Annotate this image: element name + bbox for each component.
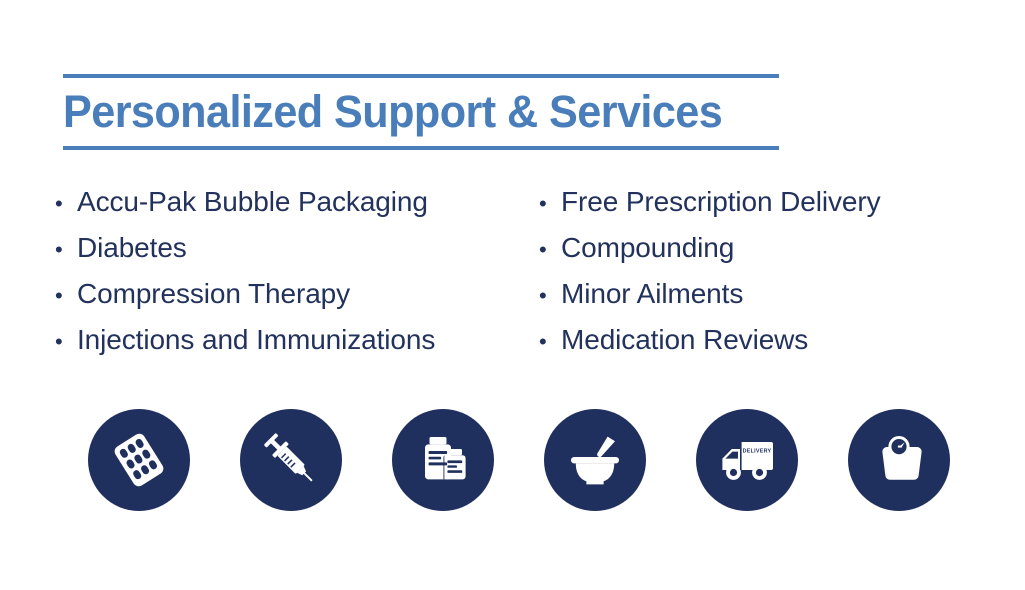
services-columns: • Accu-Pak Bubble Packaging • Diabetes •… bbox=[55, 179, 995, 363]
list-item: • Compression Therapy bbox=[55, 271, 539, 317]
weight-scale-icon bbox=[868, 429, 930, 491]
bullet-dot-icon: • bbox=[55, 273, 77, 319]
list-item: • Accu-Pak Bubble Packaging bbox=[55, 179, 539, 225]
service-label: Compression Therapy bbox=[77, 271, 350, 317]
syringe-icon bbox=[260, 429, 322, 491]
service-label: Accu-Pak Bubble Packaging bbox=[77, 179, 428, 225]
icon-badge-weight-scale bbox=[848, 409, 950, 511]
page-title: Personalized Support & Services bbox=[63, 78, 750, 146]
services-right-column: • Free Prescription Delivery • Compoundi… bbox=[539, 179, 995, 363]
bullet-list-left: • Accu-Pak Bubble Packaging • Diabetes •… bbox=[55, 179, 539, 363]
list-item: • Injections and Immunizations bbox=[55, 317, 539, 363]
bullet-dot-icon: • bbox=[539, 319, 561, 365]
pill-bottles-icon bbox=[412, 429, 474, 491]
title-rule-bottom bbox=[63, 146, 779, 150]
icon-badge-syringe bbox=[240, 409, 342, 511]
list-item: • Free Prescription Delivery bbox=[539, 179, 995, 225]
list-item: • Minor Ailments bbox=[539, 271, 995, 317]
service-label: Compounding bbox=[561, 225, 734, 271]
blister-pack-icon bbox=[108, 429, 170, 491]
service-icon-row: DELIVERY bbox=[88, 409, 952, 511]
bullet-dot-icon: • bbox=[539, 227, 561, 273]
icon-badge-mortar-pestle bbox=[544, 409, 646, 511]
bullet-dot-icon: • bbox=[539, 273, 561, 319]
icon-badge-delivery-van: DELIVERY bbox=[696, 409, 798, 511]
icon-badge-blister-pack bbox=[88, 409, 190, 511]
delivery-van-label: DELIVERY bbox=[743, 449, 772, 455]
slide-canvas: Personalized Support & Services • Accu-P… bbox=[0, 0, 1025, 590]
service-label: Minor Ailments bbox=[561, 271, 743, 317]
bullet-dot-icon: • bbox=[55, 227, 77, 273]
bullet-dot-icon: • bbox=[55, 181, 77, 227]
service-label: Injections and Immunizations bbox=[77, 317, 435, 363]
list-item: • Medication Reviews bbox=[539, 317, 995, 363]
title-block: Personalized Support & Services bbox=[63, 74, 779, 150]
services-left-column: • Accu-Pak Bubble Packaging • Diabetes •… bbox=[55, 179, 539, 363]
icon-badge-pill-bottles bbox=[392, 409, 494, 511]
list-item: • Compounding bbox=[539, 225, 995, 271]
bullet-dot-icon: • bbox=[55, 319, 77, 365]
mortar-pestle-icon bbox=[564, 429, 626, 491]
delivery-van-icon: DELIVERY bbox=[714, 427, 780, 493]
service-label: Diabetes bbox=[77, 225, 187, 271]
service-label: Medication Reviews bbox=[561, 317, 808, 363]
service-label: Free Prescription Delivery bbox=[561, 179, 881, 225]
list-item: • Diabetes bbox=[55, 225, 539, 271]
bullet-dot-icon: • bbox=[539, 181, 561, 227]
bullet-list-right: • Free Prescription Delivery • Compoundi… bbox=[539, 179, 995, 363]
